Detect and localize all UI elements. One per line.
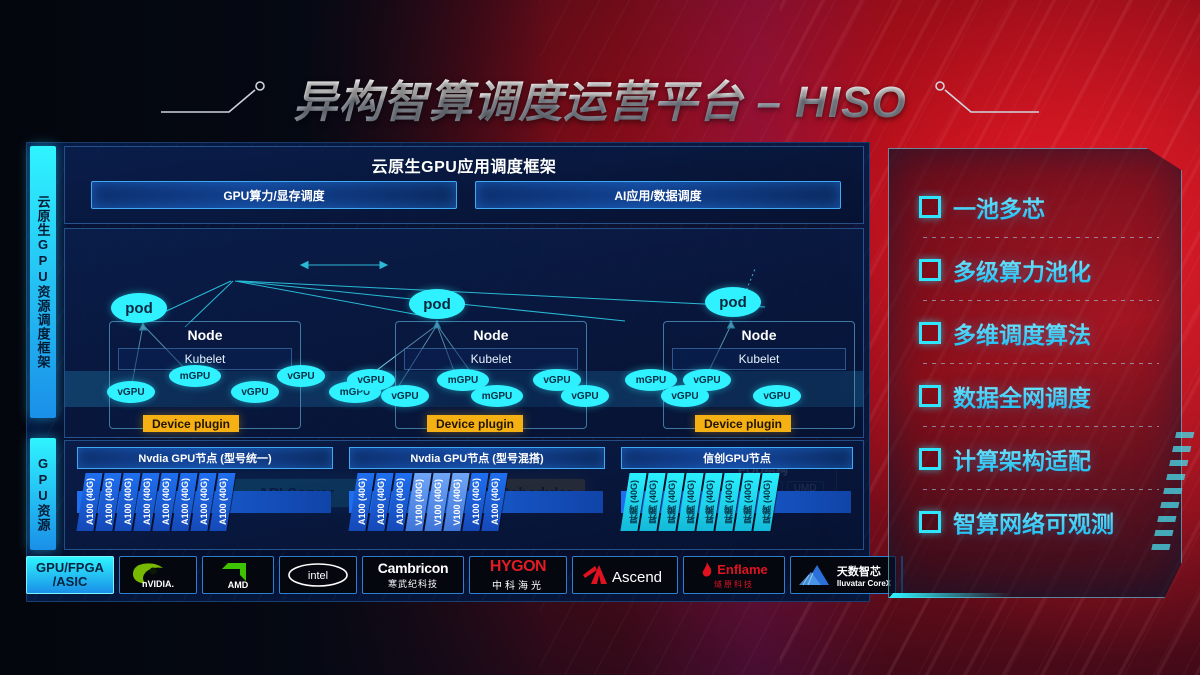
hygon-name: HYGON: [490, 558, 546, 576]
vendor-enflame[interactable]: Enflame 燧原科技: [683, 556, 785, 594]
title-left-decor-icon: [159, 78, 279, 118]
node-title-1: Node: [110, 327, 300, 343]
chip-label-line1: GPU/FPGA: [36, 561, 104, 575]
gpu-card-label: A100 (40G): [395, 478, 405, 525]
vgpu-2-6[interactable]: vGPU: [561, 385, 609, 407]
feature-item-4[interactable]: 数据全网调度: [919, 364, 1181, 427]
feature-label: 智算网络可观测: [953, 505, 1114, 539]
gpu-card-label: A100 (40G): [161, 478, 171, 525]
device-plugin-2[interactable]: Device plugin: [427, 415, 523, 432]
hygon-subname: 中科海光: [492, 577, 544, 592]
app-scheduling-panel: 云原生GPU应用调度框架 GPU算力/显存调度 AI应用/数据调度: [64, 146, 864, 224]
feature-item-1[interactable]: 一池多芯: [919, 175, 1181, 238]
gpu-card-label: 昇腾 (40G): [627, 480, 640, 524]
mgpu-2-4[interactable]: mGPU: [471, 385, 523, 407]
gpu-card-row-1: A100 (40G)A100 (40G)A100 (40G)A100 (40G)…: [77, 473, 331, 531]
gpu-card-label: A100 (40G): [376, 478, 386, 525]
device-plugin-1[interactable]: Device plugin: [143, 415, 239, 432]
sidebar-tab-framework[interactable]: 云原生GPU资源调度框架: [30, 146, 56, 418]
vgpu-1-3[interactable]: vGPU: [231, 381, 279, 403]
gpu-card-row-3: 昇腾 (40G)昇腾 (40G)昇腾 (40G)昇腾 (40G)昇腾 (40G)…: [621, 473, 851, 531]
vgpu-3-4[interactable]: vGPU: [753, 385, 801, 407]
vendor-ascend[interactable]: Ascend: [572, 556, 678, 594]
gpu-card-row-2: A100 (40G)A100 (40G)A100 (40G)V100 (40G)…: [349, 473, 603, 531]
page-title: 异构智算调度运营平台 – HISO: [293, 66, 907, 130]
checkbox-square-icon: [919, 385, 941, 407]
gpu-group-header-3[interactable]: 信创GPU节点: [621, 447, 853, 469]
feature-item-5[interactable]: 计算架构适配: [919, 427, 1181, 490]
svg-text:AMD: AMD: [228, 580, 249, 590]
gpu-card-label: A100 (40G): [199, 478, 209, 525]
vgpu-1-1[interactable]: vGPU: [107, 381, 155, 403]
iluvatar-mountain-icon: [795, 561, 835, 589]
svg-text:intel: intel: [308, 570, 328, 582]
feature-label: 多维调度算法: [953, 316, 1091, 350]
checkbox-square-icon: [919, 511, 941, 533]
gpu-card-label: V100 (40G): [414, 479, 424, 526]
gpu-card-label: A100 (40G): [104, 478, 114, 525]
feature-label: 数据全网调度: [953, 379, 1091, 413]
enflame-subname: 燧原科技: [714, 579, 754, 590]
gpu-card-label: A100 (40G): [218, 478, 228, 525]
enflame-name: Enflame: [717, 562, 768, 577]
gpu-card-label: A100 (40G): [85, 478, 95, 525]
gpu-card-label: 昇腾 (40G): [684, 480, 697, 524]
gpu-group-header-1[interactable]: Nvdia GPU节点 (型号统一): [77, 447, 333, 469]
vendor-logo-row: GPU/FPGA /ASIC nVIDIA. AMD intel: [26, 556, 868, 594]
feature-label: 多级算力池化: [953, 253, 1091, 287]
gpu-card-label: V100 (40G): [433, 479, 443, 526]
gpu-card-label: 昇腾 (40G): [760, 480, 773, 524]
feature-label: 计算架构适配: [953, 442, 1091, 476]
gpu-card-label: 昇腾 (40G): [703, 480, 716, 524]
node-title-2: Node: [396, 327, 586, 343]
cambricon-subname: 寒武纪科技: [388, 577, 438, 590]
ascend-logo-icon: Ascend: [577, 560, 673, 590]
chip-label-gpu-fpga-asic: GPU/FPGA /ASIC: [26, 556, 114, 594]
gpu-card-label: A100 (40G): [180, 478, 190, 525]
vendor-nvidia[interactable]: nVIDIA.: [119, 556, 197, 594]
gpu-group-header-2[interactable]: Nvdia GPU节点 (型号混搭): [349, 447, 605, 469]
svg-text:nVIDIA.: nVIDIA.: [142, 579, 174, 589]
node-title-3: Node: [664, 327, 854, 343]
gpu-card-label: 昇腾 (40G): [665, 480, 678, 524]
gpu-card-label: 昇腾 (40G): [722, 480, 735, 524]
amd-logo-icon: AMD: [210, 559, 266, 591]
vgpu-3-3[interactable]: vGPU: [683, 369, 731, 391]
vgpu-1-4[interactable]: vGPU: [277, 365, 325, 387]
checkbox-square-icon: [919, 196, 941, 218]
iluvatar-subname: Iluvatar CoreX: [837, 579, 891, 588]
intel-logo-icon: intel: [285, 560, 351, 590]
gpu-card-label: 昇腾 (40G): [741, 480, 754, 524]
checkbox-square-icon: [919, 322, 941, 344]
gpu-card-label: A100 (40G): [123, 478, 133, 525]
feature-list: 一池多芯多级算力池化多维调度算法数据全网调度计算架构适配智算网络可观测: [889, 149, 1181, 597]
nvidia-logo-icon: nVIDIA.: [127, 559, 189, 591]
kubelet-3: Kubelet: [672, 348, 846, 370]
mgpu-1-2[interactable]: mGPU: [169, 365, 221, 387]
gpu-card-label: A100 (40G): [142, 478, 152, 525]
gpu-card-label: V100 (40G): [452, 479, 462, 526]
iluvatar-name: 天数智芯: [837, 563, 891, 579]
vgpu-2-2[interactable]: vGPU: [381, 385, 429, 407]
svg-text:Ascend: Ascend: [612, 569, 662, 586]
vendor-iluvatar[interactable]: 天数智芯 Iluvatar CoreX: [790, 556, 896, 594]
feature-item-3[interactable]: 多维调度算法: [919, 301, 1181, 364]
sidebar-tab-gpu-resource[interactable]: GPU资源: [30, 438, 56, 550]
feature-item-6[interactable]: 智算网络可观测: [919, 490, 1181, 553]
vendor-amd[interactable]: AMD: [202, 556, 274, 594]
feature-panel: 一池多芯多级算力池化多维调度算法数据全网调度计算架构适配智算网络可观测: [888, 148, 1182, 598]
title-right-decor-icon: [921, 78, 1041, 118]
gpu-card-label: A100 (40G): [490, 478, 500, 525]
pod-ellipse-2[interactable]: pod: [409, 289, 465, 319]
enflame-flame-icon: [700, 561, 714, 579]
cambricon-name: Cambricon: [378, 560, 448, 576]
feature-label: 一池多芯: [953, 190, 1045, 224]
vendor-cambricon[interactable]: Cambricon 寒武纪科技: [362, 556, 464, 594]
checkbox-square-icon: [919, 448, 941, 470]
gpu-resource-panel: Nvdia GPU节点 (型号统一) Nvdia GPU节点 (型号混搭) 信创…: [64, 440, 864, 550]
gpu-card-label: A100 (40G): [357, 478, 367, 525]
node-scheduling-panel: API Server GPU Scheduler POD结构 APP CUDA …: [64, 228, 864, 438]
kubelet-2: Kubelet: [404, 348, 578, 370]
gpu-card-label: A100 (40G): [471, 478, 481, 525]
diagram-section-title: 云原生GPU应用调度框架: [65, 153, 863, 177]
vendor-intel[interactable]: intel: [279, 556, 357, 594]
slide-title-bar: 异构智算调度运营平台 – HISO: [0, 62, 1200, 134]
pod-ellipse-3[interactable]: pod: [705, 287, 761, 317]
pod-ellipse-1[interactable]: pod: [111, 293, 167, 323]
gpu-card-label: 昇腾 (40G): [646, 480, 659, 524]
checkbox-square-icon: [919, 259, 941, 281]
top-bar-gpu-compute[interactable]: GPU算力/显存调度: [91, 181, 457, 209]
top-bar-ai-data[interactable]: AI应用/数据调度: [475, 181, 841, 209]
device-plugin-3[interactable]: Device plugin: [695, 415, 791, 432]
chip-label-line2: /ASIC: [36, 575, 104, 589]
vendor-hygon[interactable]: HYGON 中科海光: [469, 556, 567, 594]
slide-root: 异构智算调度运营平台 – HISO 云原生GPU资源调度框架 GPU资源 云原生…: [0, 0, 1200, 675]
feature-item-2[interactable]: 多级算力池化: [919, 238, 1181, 301]
